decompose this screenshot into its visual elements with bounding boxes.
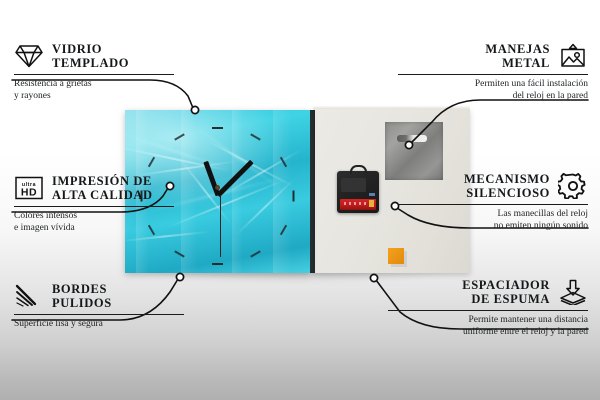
feature-title: IMPRESIÓN DE ALTA CALIDAD xyxy=(52,174,153,202)
connector-metal-handles xyxy=(411,100,588,143)
feature-divider xyxy=(398,74,588,75)
feature-title: BORDES PULIDOS xyxy=(52,282,112,310)
picture-hanger-icon xyxy=(558,43,588,69)
feature-title: MECANISMO SILENCIOSO xyxy=(464,172,550,200)
feature-silent-mechanism: MECANISMO SILENCIOSO Las manecillas del … xyxy=(398,172,588,232)
feature-title: VIDRIO TEMPLADO xyxy=(52,42,129,70)
feature-foam-spacer: ESPACIADOR DE ESPUMA Permite mantener un… xyxy=(388,278,588,338)
feature-tempered-glass: VIDRIO TEMPLADO Resistencia a grietas y … xyxy=(14,42,174,102)
infographic-canvas: VIDRIO TEMPLADO Resistencia a grietas y … xyxy=(0,0,600,400)
feature-description: Resistencia a grietas y rayones xyxy=(14,79,174,102)
foam-spacer-icon xyxy=(558,279,588,305)
feature-description: Superficie lisa y segura xyxy=(14,319,184,331)
polished-edges-icon xyxy=(14,283,44,309)
gear-icon xyxy=(558,173,588,199)
feature-title: ESPACIADOR DE ESPUMA xyxy=(462,278,550,306)
diamond-icon xyxy=(14,43,44,69)
feature-divider xyxy=(388,310,588,311)
connector-dot-tempered-glass xyxy=(191,106,198,113)
clock-center-cap xyxy=(215,185,220,190)
connector-dot-foam-spacer xyxy=(370,274,377,281)
feature-metal-handles: MANEJAS METAL Permiten una fácil instala… xyxy=(398,42,588,102)
ultra-hd-icon: ultra HD xyxy=(14,175,44,201)
feature-divider xyxy=(14,314,184,315)
feature-description: Permite mantener una distancia uniforme … xyxy=(388,315,588,338)
feature-divider xyxy=(14,206,174,207)
feature-divider xyxy=(398,204,588,205)
feature-title: MANEJAS METAL xyxy=(485,42,550,70)
feature-hd-print: ultra HD IMPRESIÓN DE ALTA CALIDAD Color… xyxy=(14,174,174,234)
feature-description: Las manecillas del reloj no emiten ningú… xyxy=(398,209,588,232)
ultra-hd-icon-large-label: HD xyxy=(21,187,37,199)
connector-dot-metal-handles xyxy=(405,141,412,148)
feature-polished-edges: BORDES PULIDOS Superficie lisa y segura xyxy=(14,282,184,331)
feature-divider xyxy=(14,74,174,75)
feature-description: Colores intensos e imagen vívida xyxy=(14,211,174,234)
feature-description: Permiten una fácil instalación del reloj… xyxy=(398,79,588,102)
connector-dot-polished-edges xyxy=(176,273,183,280)
